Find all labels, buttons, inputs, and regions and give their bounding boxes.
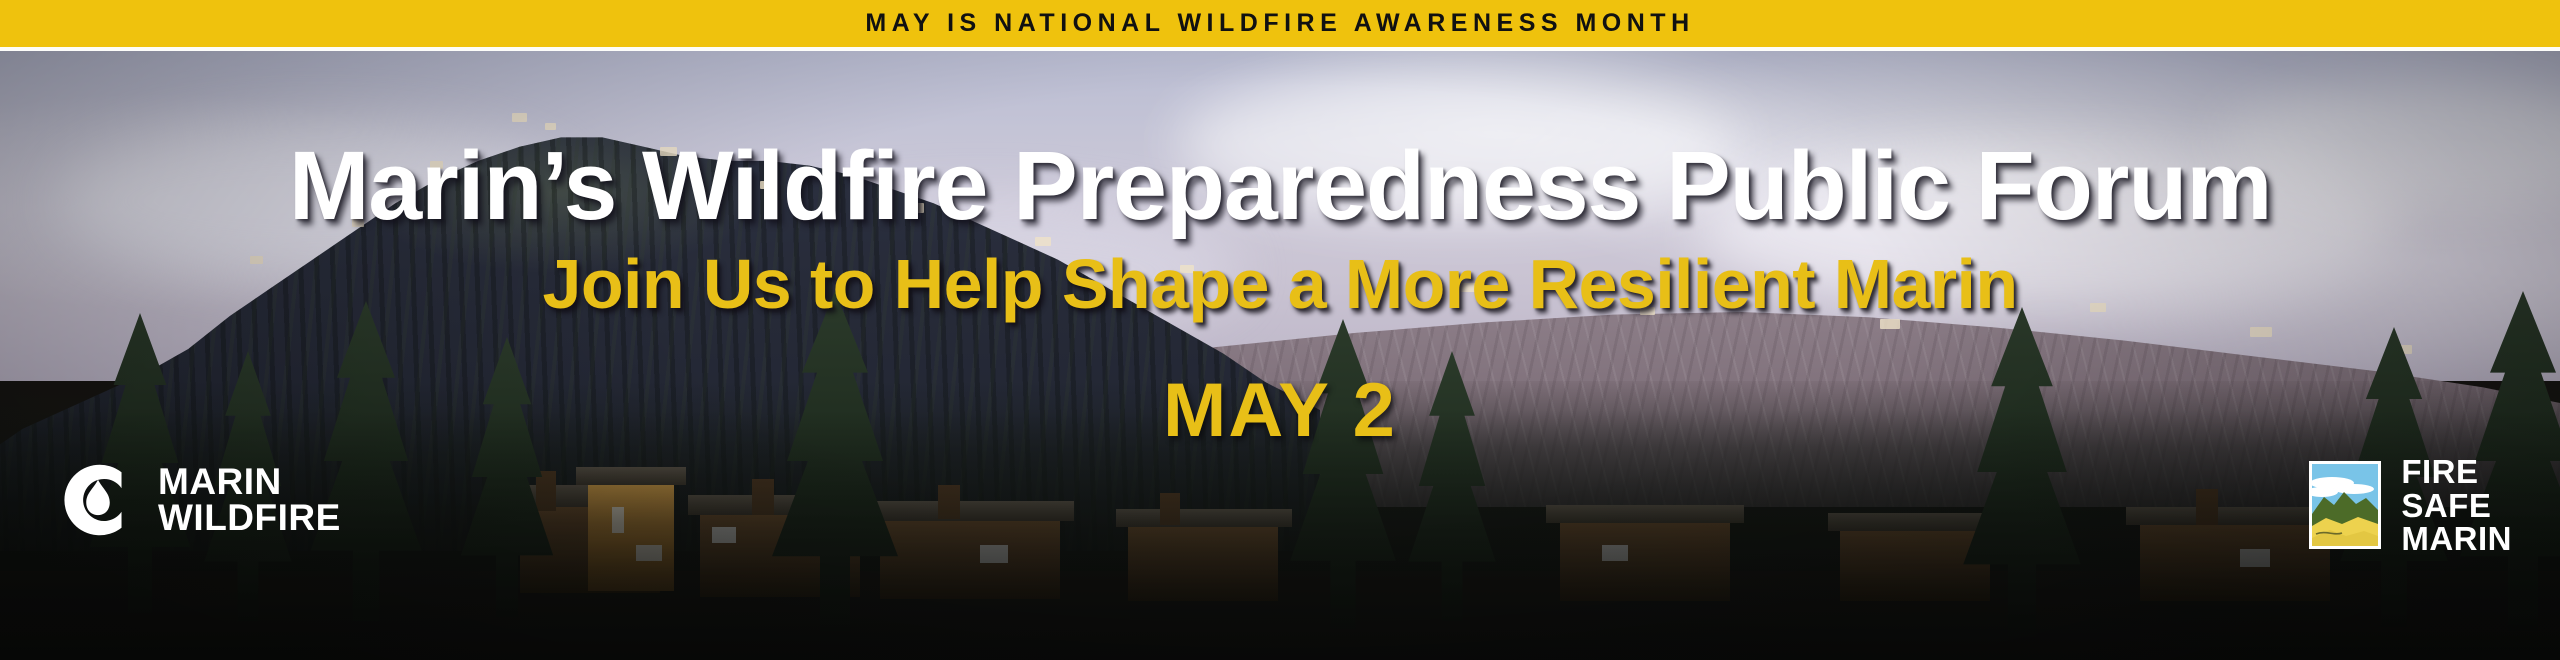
bar-divider [0, 47, 2560, 51]
page-title: Marin’s Wildfire Preparedness Public For… [0, 137, 2560, 234]
hero-subheadline: Join Us to Help Shape a More Resilient M… [0, 249, 2560, 319]
awareness-month-bar: MAY IS NATIONAL WILDFIRE AWARENESS MONTH [0, 0, 2560, 47]
event-date: MAY 2 [0, 373, 2560, 449]
logo-line-fire: FIRE [2401, 455, 2512, 489]
c-flame-icon [56, 458, 140, 542]
logo-line-marin: MARIN [158, 464, 341, 500]
hero-text-layer: Marin’s Wildfire Preparedness Public For… [0, 51, 2560, 660]
marin-wildfire-wordmark: MARIN WILDFIRE [158, 464, 341, 537]
logo-line-marin: MARIN [2401, 522, 2512, 556]
fire-safe-marin-logo: FIRE SAFE MARIN [2309, 455, 2512, 556]
marin-wildfire-logo: MARIN WILDFIRE [56, 458, 341, 542]
awareness-month-text: MAY IS NATIONAL WILDFIRE AWARENESS MONTH [865, 9, 1694, 38]
logo-line-wildfire: WILDFIRE [158, 500, 341, 536]
logo-line-safe: SAFE [2401, 489, 2512, 523]
landscape-hills-icon [2309, 461, 2381, 549]
fire-safe-marin-wordmark: FIRE SAFE MARIN [2401, 455, 2512, 556]
wildfire-forum-banner: MAY IS NATIONAL WILDFIRE AWARENESS MONTH [0, 0, 2560, 660]
